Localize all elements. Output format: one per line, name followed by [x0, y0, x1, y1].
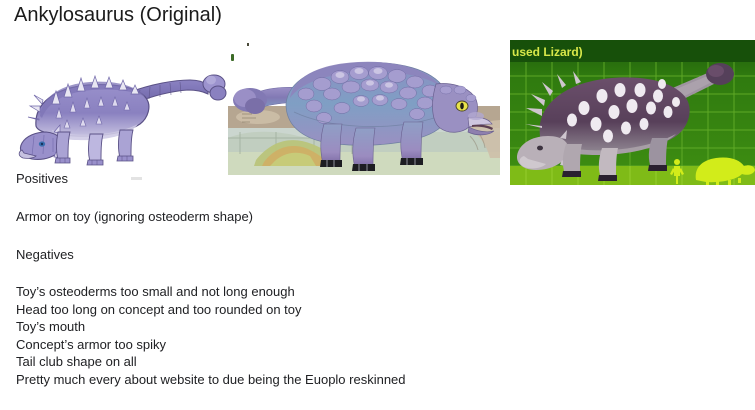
positive-item-0: Armor on toy (ignoring osteoderm shape) [16, 208, 736, 225]
negative-item-2: Toy’s mouth [16, 318, 736, 336]
negative-item-4: Tail club shape on all [16, 353, 736, 371]
negative-item-0: Toy’s osteoderms too small and not long … [16, 283, 736, 301]
ankylosaurus-scale-render: used Lizard) [510, 40, 755, 185]
artifact-speck-dark [247, 43, 249, 46]
negative-item-5: Pretty much every about website to due b… [16, 371, 736, 389]
negatives-list: Toy’s osteoderms too small and not long … [16, 283, 736, 388]
slide-body: Positives Armor on toy (ignoring osteode… [16, 170, 736, 388]
ankylosaurus-concept-art [12, 40, 227, 168]
negative-item-3: Concept’s armor too spiky [16, 336, 736, 354]
negatives-heading: Negatives [16, 246, 736, 263]
scale-render-caption: used Lizard) [512, 45, 583, 59]
image-band: used Lizard) [0, 18, 755, 170]
ankylosaurus-toy-photo [228, 32, 500, 175]
artifact-speck-green [231, 54, 234, 61]
positives-heading: Positives [16, 170, 736, 187]
negative-item-1: Head too long on concept and too rounded… [16, 301, 736, 319]
